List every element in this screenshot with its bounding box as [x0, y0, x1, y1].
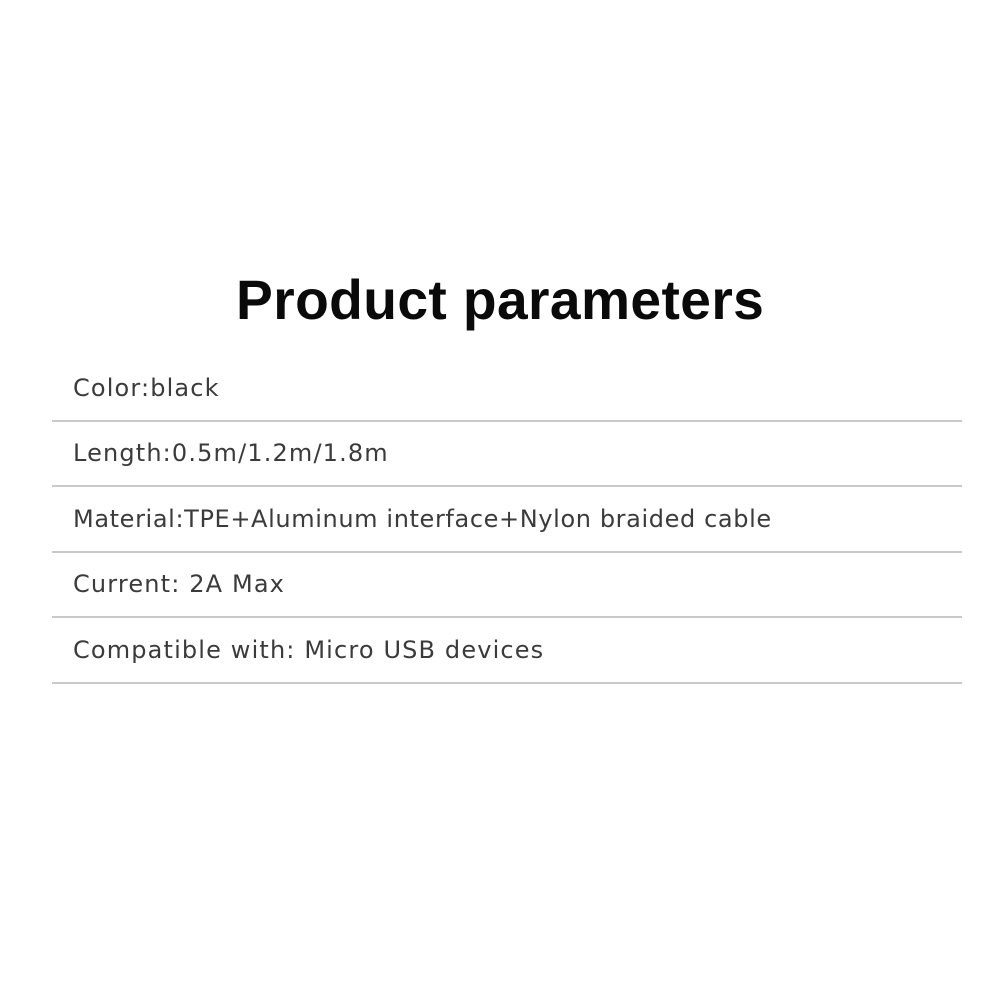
spec-color: Color:black	[52, 373, 220, 403]
table-row: Compatible with: Micro USB devices	[52, 618, 962, 684]
table-row: Current: 2A Max	[52, 553, 962, 619]
page-title: Product parameters	[236, 269, 764, 331]
page-title-container: Product parameters	[0, 231, 1000, 368]
spec-material: Material:TPE+Aluminum interface+Nylon br…	[52, 504, 772, 534]
spec-table: Color:black Length:0.5m/1.2m/1.8m Materi…	[52, 356, 962, 684]
spec-length: Length:0.5m/1.2m/1.8m	[52, 438, 389, 468]
table-row: Material:TPE+Aluminum interface+Nylon br…	[52, 487, 962, 553]
table-row: Color:black	[52, 356, 962, 422]
table-row: Length:0.5m/1.2m/1.8m	[52, 422, 962, 488]
product-parameters-page: Product parameters Color:black Length:0.…	[0, 0, 1000, 1000]
spec-compatibility: Compatible with: Micro USB devices	[52, 635, 544, 665]
spec-current: Current: 2A Max	[52, 569, 285, 599]
